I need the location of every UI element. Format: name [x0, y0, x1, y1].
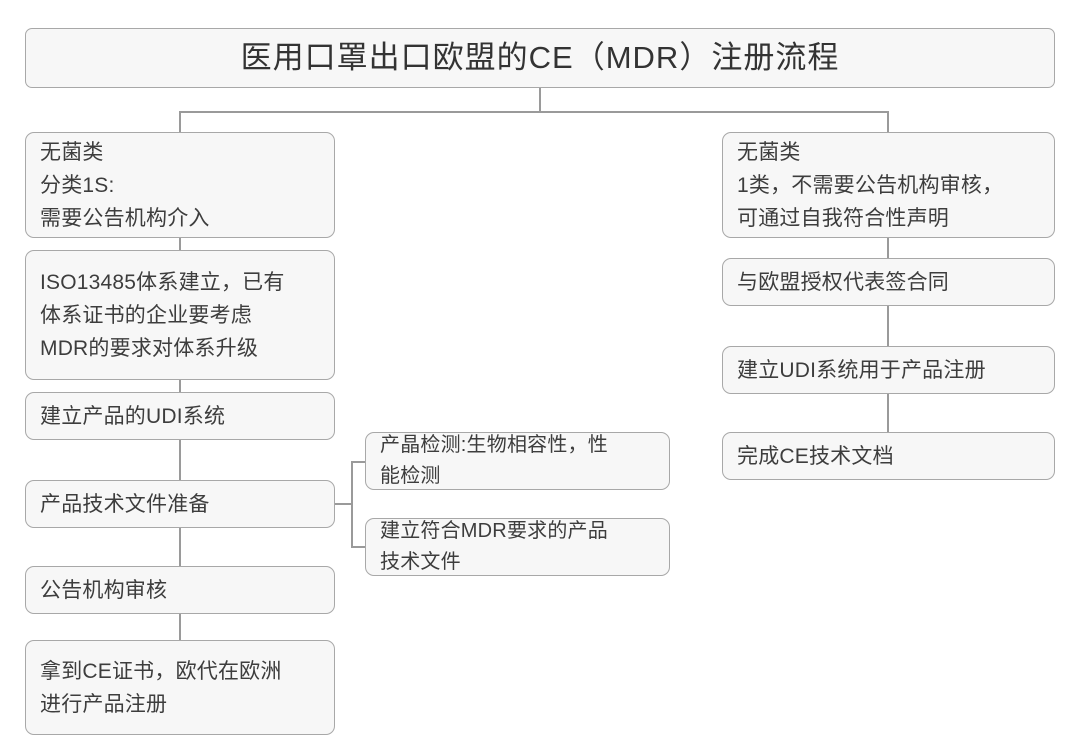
node-right-4[interactable]: 完成CE技术文档	[722, 432, 1055, 480]
node-right-3[interactable]: 建立UDI系统用于产品注册	[722, 346, 1055, 394]
node-left-5-label: 公告机构审核	[26, 574, 334, 607]
connector-middle-bracket-spine	[351, 461, 353, 547]
node-right-2-label: 与欧盟授权代表签合同	[723, 266, 1054, 299]
node-right-3-label: 建立UDI系统用于产品注册	[723, 354, 1054, 387]
node-left-1[interactable]: 无菌类 分类1S: 需要公告机构介入	[25, 132, 335, 238]
node-left-4-label: 产品技术文件准备	[26, 488, 334, 521]
node-mid-1-label: 产晶检测:生物相容性，性 能检测	[366, 430, 669, 492]
flowchart-canvas: 医用口罩出口欧盟的CE（MDR）注册流程 无菌类 分类1S: 需要公告机构介入 …	[0, 0, 1080, 753]
node-left-2-label: ISO13485体系建立，已有 体系证书的企业要考虑 MDR的要求对体系升级	[26, 266, 334, 365]
connector-left-3-4	[179, 440, 181, 481]
node-right-4-label: 完成CE技术文档	[723, 440, 1054, 473]
connector-right-1-2	[887, 238, 889, 259]
connector-right-3-4	[887, 394, 889, 433]
connector-bracket-to-mid-1	[351, 461, 366, 463]
node-mid-2[interactable]: 建立符合MDR要求的产品 技术文件	[365, 518, 670, 576]
node-left-6-label: 拿到CE证书，欧代在欧洲 进行产品注册	[26, 655, 334, 721]
node-left-6[interactable]: 拿到CE证书，欧代在欧洲 进行产品注册	[25, 640, 335, 735]
node-right-2[interactable]: 与欧盟授权代表签合同	[722, 258, 1055, 306]
node-mid-1[interactable]: 产晶检测:生物相容性，性 能检测	[365, 432, 670, 490]
connector-bracket-to-mid-2	[351, 546, 366, 548]
node-right-1-label: 无菌类 1类，不需要公告机构审核， 可通过自我符合性声明	[723, 136, 1054, 235]
node-left-3-label: 建立产品的UDI系统	[26, 400, 334, 433]
page-title: 医用口罩出口欧盟的CE（MDR）注册流程	[26, 36, 1054, 80]
flowchart-title-box: 医用口罩出口欧盟的CE（MDR）注册流程	[25, 28, 1055, 88]
node-right-1[interactable]: 无菌类 1类，不需要公告机构审核， 可通过自我符合性声明	[722, 132, 1055, 238]
node-left-5[interactable]: 公告机构审核	[25, 566, 335, 614]
connector-left-4-5	[179, 528, 181, 567]
node-mid-2-label: 建立符合MDR要求的产品 技术文件	[366, 516, 669, 578]
connector-title-stem	[539, 88, 541, 113]
connector-right-branch-drop	[887, 111, 889, 133]
connector-left-branch-drop	[179, 111, 181, 133]
connector-right-2-3	[887, 306, 889, 347]
connector-left-5-6	[179, 614, 181, 641]
node-left-4[interactable]: 产品技术文件准备	[25, 480, 335, 528]
node-left-3[interactable]: 建立产品的UDI系统	[25, 392, 335, 440]
connector-branch-bus	[180, 111, 889, 113]
node-left-1-label: 无菌类 分类1S: 需要公告机构介入	[26, 136, 334, 235]
node-left-2[interactable]: ISO13485体系建立，已有 体系证书的企业要考虑 MDR的要求对体系升级	[25, 250, 335, 380]
